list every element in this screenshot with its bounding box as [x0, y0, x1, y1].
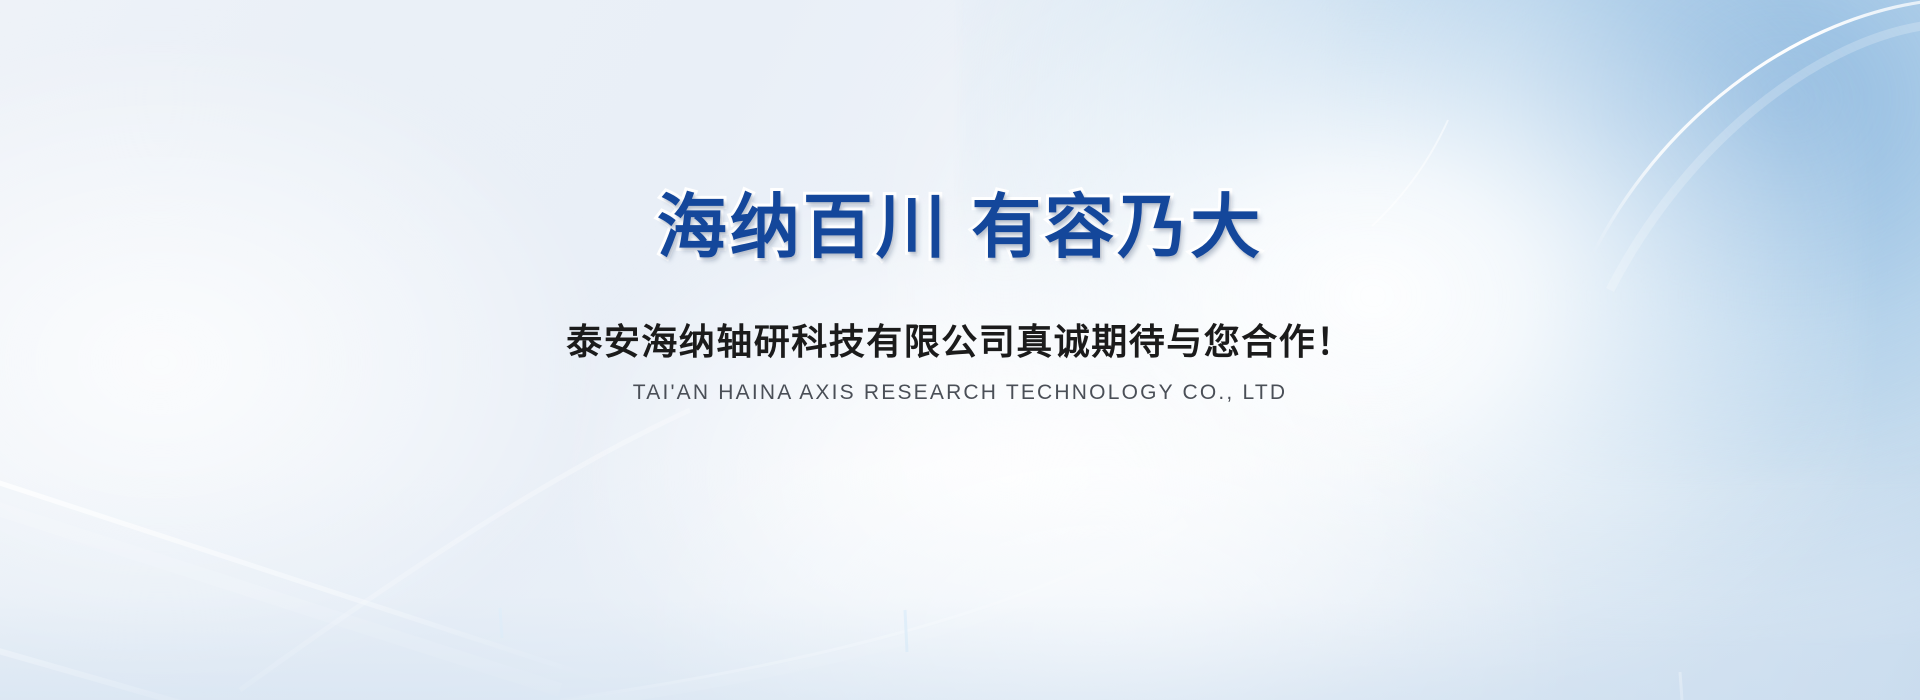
banner-headline: 海纳百川 有容乃大: [657, 192, 1263, 262]
banner-subtitle-chinese: 泰安海纳轴研科技有限公司真诚期待与您合作！: [566, 324, 1354, 360]
banner-subtitle-english: TAI'AN HAINA AXIS RESEARCH TECHNOLOGY CO…: [633, 382, 1287, 403]
hero-banner: 海纳百川 有容乃大 泰安海纳轴研科技有限公司真诚期待与您合作！ TAI'AN H…: [0, 0, 1920, 700]
banner-content: 海纳百川 有容乃大 泰安海纳轴研科技有限公司真诚期待与您合作！ TAI'AN H…: [0, 0, 1920, 700]
